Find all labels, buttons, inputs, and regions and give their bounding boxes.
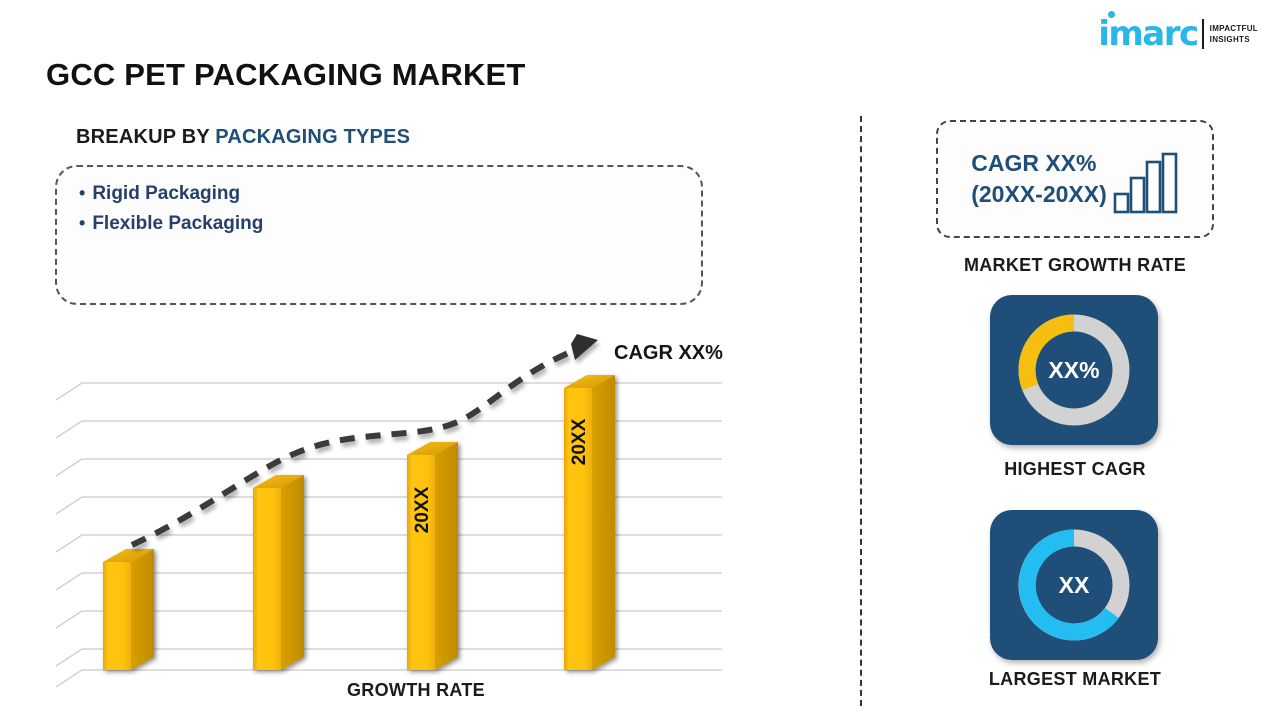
caption-market-growth-rate: MARKET GROWTH RATE [865, 255, 1280, 276]
cagr-card-line2: (20XX-20XX) [971, 179, 1107, 210]
list-item-label: Rigid Packaging [92, 179, 240, 209]
bullet-icon: • [79, 214, 85, 232]
chart-svg: 20XX 20XX [50, 330, 750, 720]
section-heading-accent: PACKAGING TYPES [215, 126, 410, 148]
logo-tagline-line2: INSIGHTS [1210, 34, 1258, 45]
chart-xlabel: GROWTH RATE [347, 680, 485, 701]
chart-gridlines [56, 383, 722, 687]
vertical-divider [860, 116, 862, 706]
logo-wordmark: imarc [1098, 17, 1197, 51]
bar-3 [407, 442, 458, 670]
caption-highest-cagr: HIGHEST CAGR [865, 459, 1280, 480]
cagr-card-text: CAGR XX% (20XX-20XX) [971, 148, 1107, 210]
trend-arrowhead [571, 334, 598, 360]
largest-market-donut: XX [1013, 524, 1135, 646]
highest-cagr-card: XX% [990, 295, 1158, 445]
caption-largest-market: LARGEST MARKET [865, 669, 1280, 690]
svg-text:20XX: 20XX [412, 486, 433, 533]
bar-chart-icon [1113, 152, 1179, 214]
logo-tagline: IMPACTFUL INSIGHTS [1210, 23, 1258, 45]
section-heading-prefix: BREAKUP BY [76, 126, 215, 148]
bar-2 [253, 475, 304, 670]
logo-text: imarc [1098, 14, 1197, 54]
growth-rate-bar-chart: 20XX 20XX [50, 330, 750, 720]
bar-1 [103, 549, 154, 670]
largest-market-card: XX [990, 510, 1158, 660]
market-growth-rate-card: CAGR XX% (20XX-20XX) [936, 120, 1214, 238]
logo-tagline-line1: IMPACTFUL [1210, 23, 1258, 34]
cagr-card-line1: CAGR XX% [971, 148, 1107, 179]
donut-value-label: XX% [1013, 309, 1135, 431]
chart-trend-line [132, 334, 598, 545]
section-heading: BREAKUP BY PACKAGING TYPES [76, 126, 410, 149]
logo-divider [1202, 19, 1204, 49]
packaging-types-box: • Rigid Packaging • Flexible Packaging [55, 165, 703, 305]
page-title: GCC PET PACKAGING MARKET [46, 57, 526, 93]
list-item: • Rigid Packaging [79, 179, 701, 209]
list-item: • Flexible Packaging [79, 209, 701, 239]
svg-text:20XX: 20XX [569, 418, 590, 465]
highest-cagr-donut: XX% [1013, 309, 1135, 431]
list-item-label: Flexible Packaging [92, 209, 263, 239]
chart-cagr-annotation: CAGR XX% [614, 342, 723, 365]
imarc-logo: imarc IMPACTFUL INSIGHTS [1098, 14, 1258, 54]
donut-value-label: XX [1013, 524, 1135, 646]
bullet-icon: • [79, 184, 85, 202]
